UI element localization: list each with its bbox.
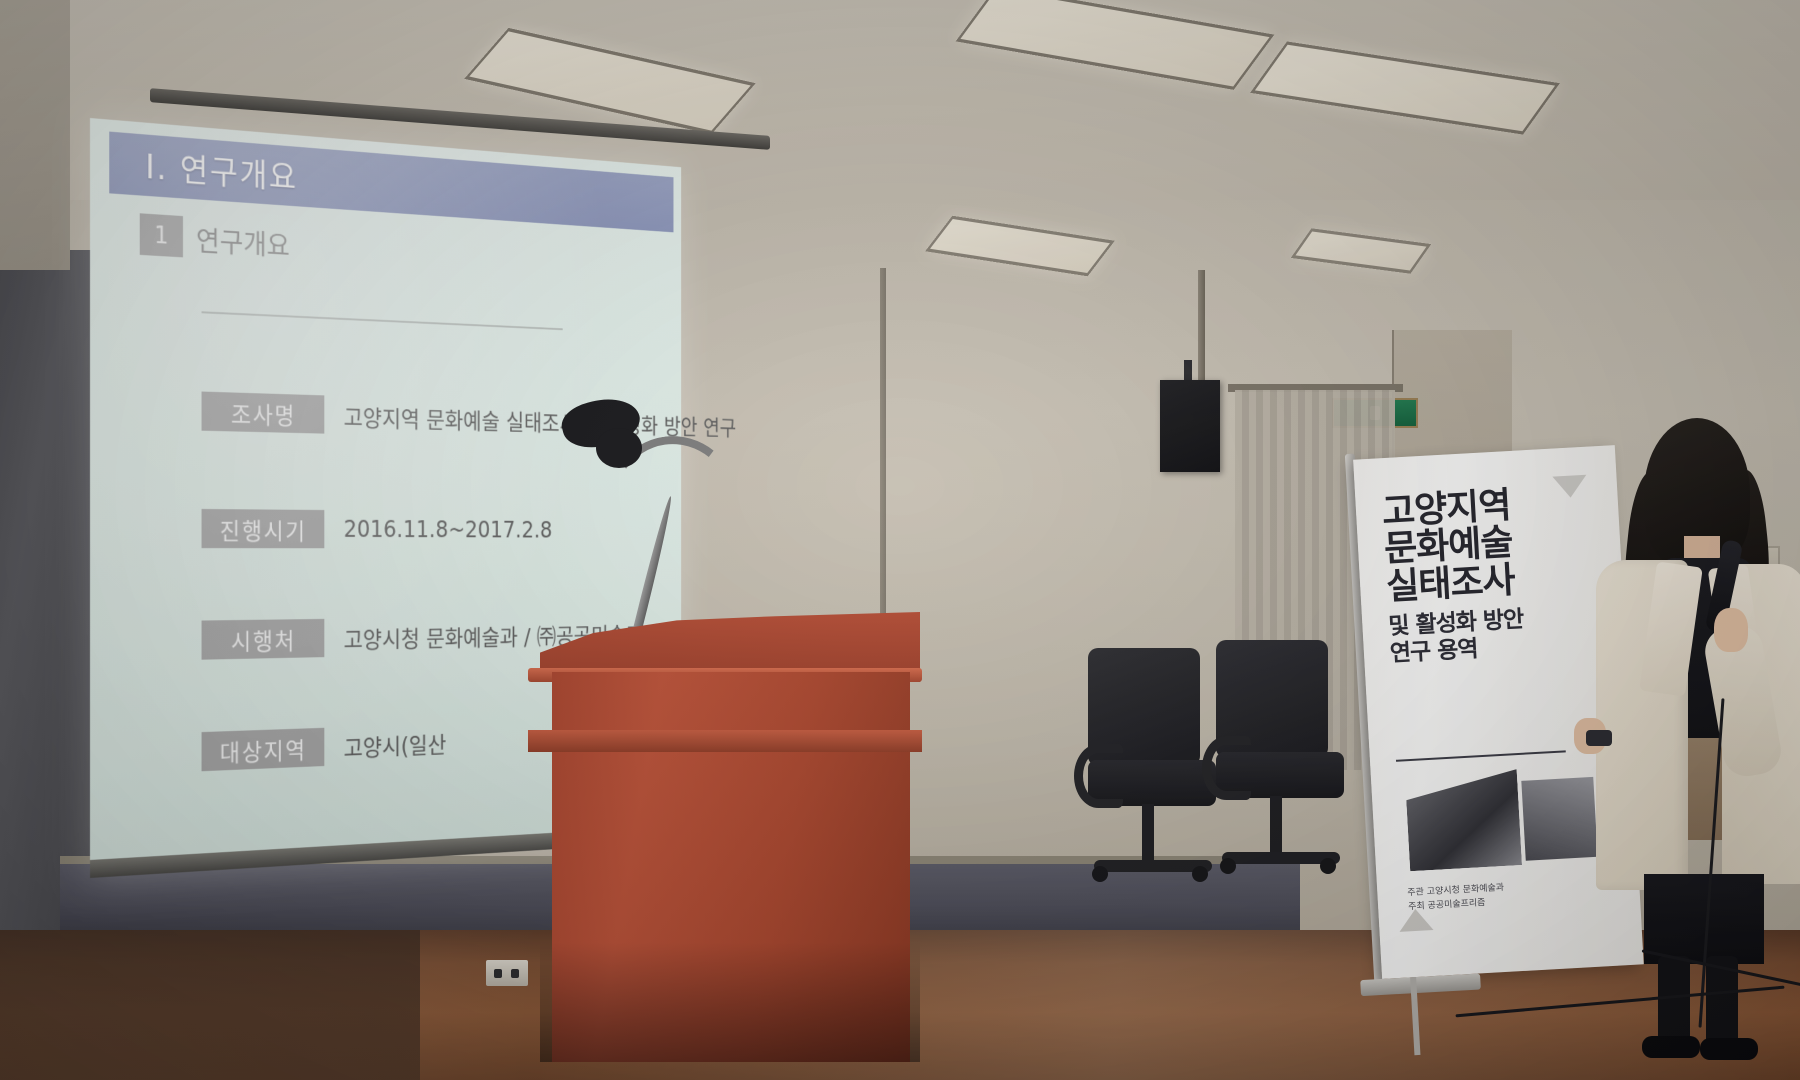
banner-divider — [1396, 750, 1566, 761]
chair-post — [1270, 796, 1282, 858]
left-upper-wall — [0, 0, 70, 270]
outlet-socket-icon — [511, 969, 519, 978]
leg — [1658, 956, 1690, 1048]
outlet-socket-icon — [494, 969, 502, 978]
chair-caster — [1192, 866, 1208, 882]
wall-pa-speaker-icon — [1160, 380, 1220, 472]
wooden-podium — [540, 612, 920, 1052]
chair-caster — [1220, 858, 1236, 874]
chair-armrest — [1074, 744, 1123, 808]
banner-credits: 주관 고양시청 문화예술과 주최 공공미술프리즘 — [1407, 882, 1505, 914]
podium-shadow — [540, 942, 920, 1062]
banner-triangle-icon — [1552, 475, 1587, 499]
wall-power-outlet — [486, 960, 528, 986]
chair-post — [1142, 804, 1154, 866]
left-wall-pillar — [0, 250, 92, 950]
presentation-clicker-icon[interactable] — [1586, 730, 1612, 746]
banner-photo — [1521, 777, 1597, 861]
podium-shelf — [528, 730, 922, 752]
presentation-room-photo: Ⅰ. 연구개요 1 연구개요 조사명 고양지역 문화예술 실태조사 및 활성화 … — [0, 0, 1800, 1080]
banner-photo — [1405, 769, 1522, 871]
chair-armrest — [1202, 736, 1251, 800]
banner-title-line: 실태조사 — [1385, 561, 1522, 606]
chair-caster — [1320, 858, 1336, 874]
presenter — [1588, 418, 1800, 1038]
microphone-capsule-icon — [596, 428, 642, 468]
shoe — [1700, 1038, 1758, 1060]
hand — [1714, 608, 1748, 652]
shoe — [1642, 1036, 1700, 1058]
wall-conduit — [1198, 270, 1205, 390]
chair-caster — [1092, 866, 1108, 882]
floor-shadow-left — [0, 930, 420, 1080]
